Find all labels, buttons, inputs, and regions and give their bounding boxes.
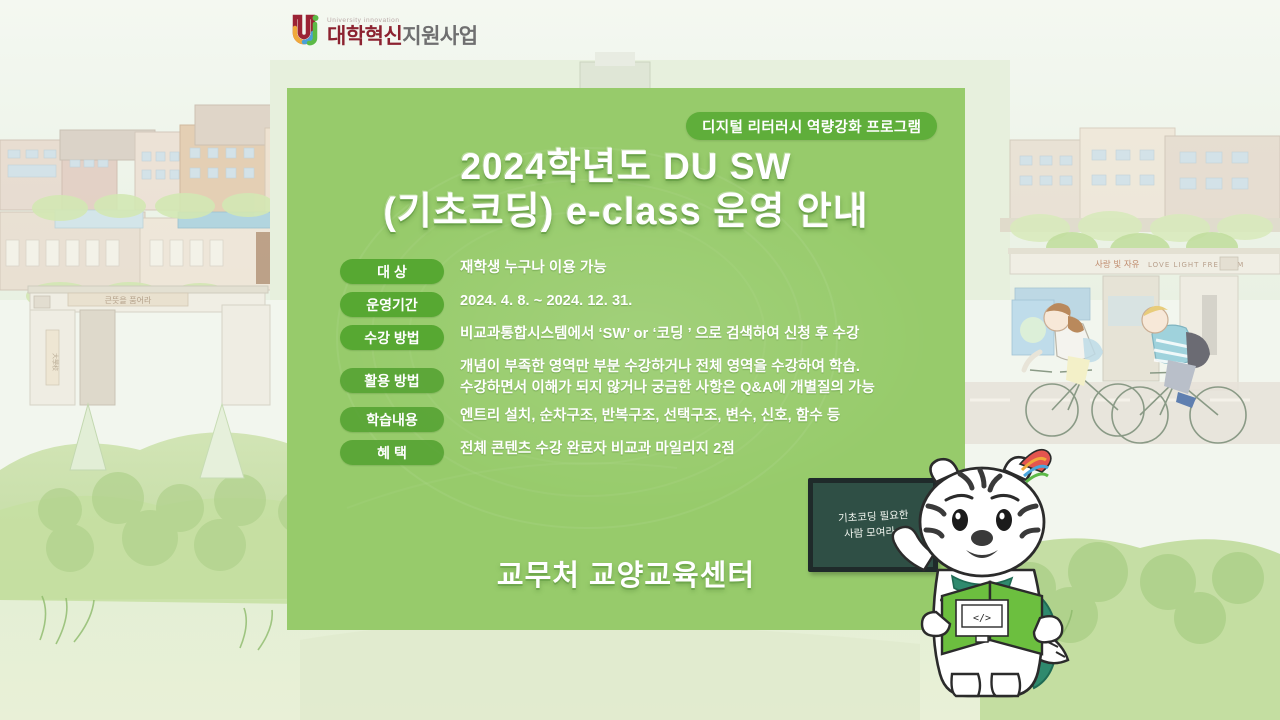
label-usage-method: 활용 방법 xyxy=(340,368,444,393)
info-row-curriculum: 학습내용 엔트리 설치, 순차구조, 반복구조, 선택구조, 변수, 신호, 함… xyxy=(340,406,960,432)
poster-canvas: 큰뜻을 품어라 大學校 xyxy=(0,0,1280,720)
info-row-enrollment-method: 수강 방법 비교과통합시스템에서 ‘SW’ or ‘코딩 ’ 으로 검색하여 신… xyxy=(340,324,960,350)
value-target: 재학생 누구나 이용 가능 xyxy=(460,258,607,279)
label-enrollment-method: 수강 방법 xyxy=(340,325,444,350)
value-enrollment-method: 비교과통합시스템에서 ‘SW’ or ‘코딩 ’ 으로 검색하여 신청 후 수강 xyxy=(460,324,859,345)
right-buildings xyxy=(1000,128,1280,267)
value-usage-method: 개념이 부족한 영역만 부분 수강하거나 전체 영역을 수강하여 학습. 수강하… xyxy=(460,357,875,399)
svg-text:사랑 빛 자유: 사랑 빛 자유 xyxy=(1095,259,1140,270)
logo-korean-secondary: 지원사업 xyxy=(402,25,477,48)
title-line-1: 2024학년도 DU SW xyxy=(287,146,965,187)
nose xyxy=(971,530,993,546)
label-curriculum: 학습내용 xyxy=(340,407,444,432)
info-rows: 대 상 재학생 누구나 이용 가능 운영기간 2024. 4. 8. ~ 202… xyxy=(340,258,960,472)
label-period: 운영기간 xyxy=(340,292,444,317)
svg-text:큰뜻을 품어라: 큰뜻을 품어라 xyxy=(105,295,152,305)
logo-english-text: University innovation xyxy=(327,18,478,25)
u-j-logo-mark xyxy=(292,14,322,48)
eye-left xyxy=(952,509,968,531)
eye-right xyxy=(996,509,1012,531)
program-badge: 디지털 리터러시 역량강화 프로그램 xyxy=(686,112,937,140)
logo-korean-primary: 대학혁신 xyxy=(327,25,402,48)
left-gate: 큰뜻을 품어라 大學校 xyxy=(28,286,270,405)
info-row-benefit: 혜 택 전체 콘텐츠 수강 완료자 비교과 마일리지 2점 xyxy=(340,439,960,465)
tiger-mascot: </> xyxy=(880,430,1110,700)
logo-text-block: University innovation 대학혁신지원사업 xyxy=(327,18,478,49)
title-line-2: (기초코딩) e-class 운영 안내 xyxy=(287,191,965,234)
value-usage-method-line2: 수강하면서 이해가 되지 않거나 궁금한 사항은 Q&A에 개별질의 가능 xyxy=(460,378,875,399)
info-row-target: 대 상 재학생 누구나 이용 가능 xyxy=(340,258,960,284)
label-benefit: 혜 택 xyxy=(340,440,444,465)
info-row-usage-method: 활용 방법 개념이 부족한 영역만 부분 수강하거나 전체 영역을 수강하여 학… xyxy=(340,357,960,399)
value-period: 2024. 4. 8. ~ 2024. 12. 31. xyxy=(460,291,632,312)
value-curriculum: 엔트리 설치, 순차구조, 반복구조, 선택구조, 변수, 신호, 함수 등 xyxy=(460,406,840,427)
info-row-period: 운영기간 2024. 4. 8. ~ 2024. 12. 31. xyxy=(340,291,960,317)
label-target: 대 상 xyxy=(340,259,444,284)
university-innovation-logo: University innovation 대학혁신지원사업 xyxy=(292,14,478,48)
svg-text:</>: </> xyxy=(973,613,991,624)
value-usage-method-line1: 개념이 부족한 영역만 부분 수강하거나 전체 영역을 수강하여 학습. xyxy=(460,357,875,378)
logo-korean-text: 대학혁신지원사업 xyxy=(327,26,478,47)
poster-title: 2024학년도 DU SW (기초코딩) e-class 운영 안내 xyxy=(287,146,965,234)
svg-text:大學校: 大學校 xyxy=(51,353,59,371)
value-benefit: 전체 콘텐츠 수강 완료자 비교과 마일리지 2점 xyxy=(460,439,735,460)
